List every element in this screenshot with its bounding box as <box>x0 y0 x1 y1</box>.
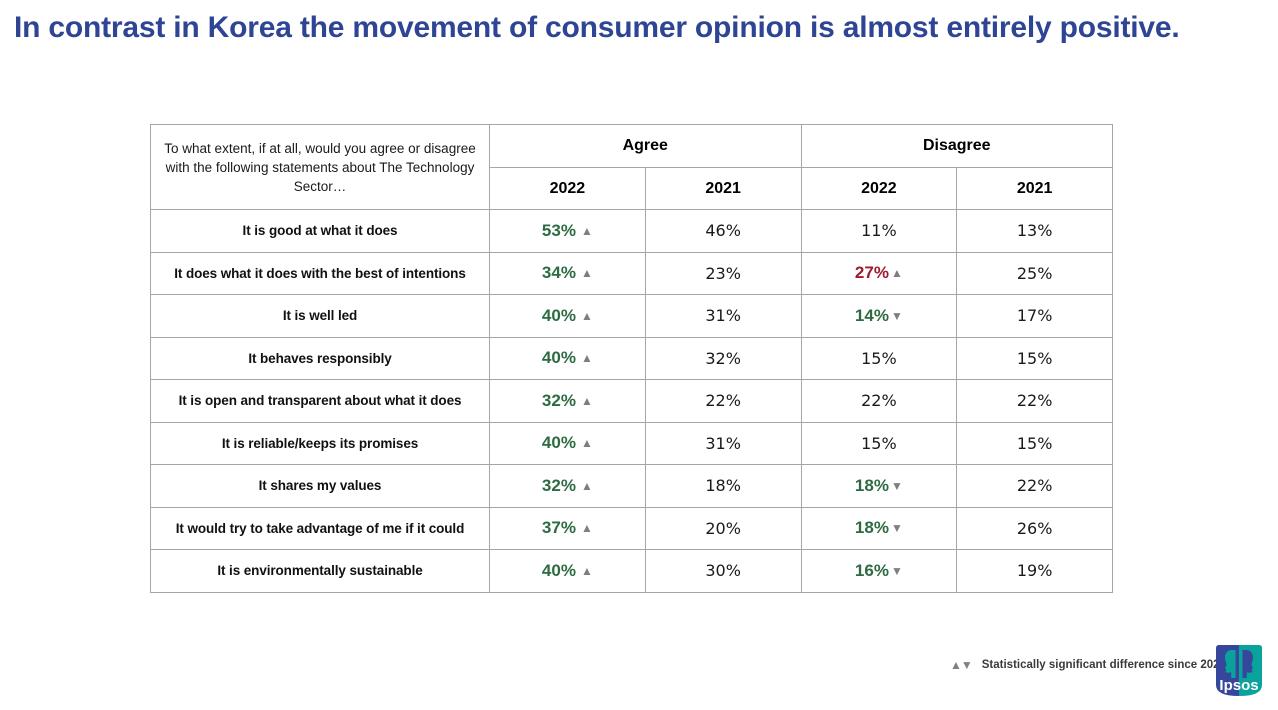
cell-agree-2021-value: 31% <box>705 434 741 453</box>
statement-label: It would try to take advantage of me if … <box>151 507 490 550</box>
cell-disagree-2022: 14%▼ <box>801 295 957 338</box>
cell-agree-2021: 31% <box>645 422 801 465</box>
significance-legend: ▲▼ Statistically significant difference … <box>950 659 1226 671</box>
cell-agree-2021: 23% <box>645 252 801 295</box>
cell-agree-2022: 40%▲ <box>490 337 646 380</box>
cell-agree-2021-value: 46% <box>705 221 741 240</box>
cell-disagree-2022: 11% <box>801 210 957 253</box>
cell-disagree-2022: 18%▼ <box>801 507 957 550</box>
cell-agree-2022-value: 40% <box>542 433 576 452</box>
cell-disagree-2021-value: 25% <box>1017 264 1053 283</box>
arrow-up-icon: ▲ <box>581 351 593 365</box>
cell-agree-2021: 31% <box>645 295 801 338</box>
table-row: It does what it does with the best of in… <box>151 252 1113 295</box>
cell-disagree-2021: 26% <box>957 507 1113 550</box>
arrow-up-icon: ▲ <box>581 521 593 535</box>
significance-arrows-icon: ▲▼ <box>950 659 972 671</box>
table-row: It shares my values32%▲18%18%▼22% <box>151 465 1113 508</box>
cell-disagree-2022: 15% <box>801 422 957 465</box>
table-row: It would try to take advantage of me if … <box>151 507 1113 550</box>
statement-label: It is well led <box>151 295 490 338</box>
column-header-agree-2022: 2022 <box>490 168 646 210</box>
cell-disagree-2022-value: 27% <box>855 263 889 282</box>
cell-disagree-2021: 17% <box>957 295 1113 338</box>
arrow-down-icon: ▼ <box>891 564 903 578</box>
table-row: It is reliable/keeps its promises40%▲31%… <box>151 422 1113 465</box>
column-header-disagree-2022: 2022 <box>801 168 957 210</box>
column-header-disagree-2021: 2021 <box>957 168 1113 210</box>
arrow-up-icon: ▲ <box>581 479 593 493</box>
cell-disagree-2021-value: 22% <box>1017 476 1053 495</box>
significance-legend-text: Statistically significant difference sin… <box>982 659 1226 671</box>
arrow-up-icon: ▲ <box>891 266 903 280</box>
cell-agree-2021: 46% <box>645 210 801 253</box>
cell-disagree-2022-value: 18% <box>855 518 889 537</box>
cell-agree-2022-value: 40% <box>542 306 576 325</box>
cell-disagree-2021: 22% <box>957 380 1113 423</box>
cell-agree-2022-value: 34% <box>542 263 576 282</box>
cell-disagree-2021: 15% <box>957 337 1113 380</box>
cell-disagree-2021-value: 15% <box>1017 349 1053 368</box>
cell-disagree-2022: 15% <box>801 337 957 380</box>
arrow-up-icon: ▲ <box>581 436 593 450</box>
page-title: In contrast in Korea the movement of con… <box>14 6 1264 49</box>
cell-disagree-2022-value: 14% <box>855 306 889 325</box>
cell-agree-2021-value: 23% <box>705 264 741 283</box>
arrow-up-icon: ▲ <box>581 394 593 408</box>
statement-label: It does what it does with the best of in… <box>151 252 490 295</box>
cell-agree-2022-value: 40% <box>542 561 576 580</box>
cell-disagree-2022-value: 11% <box>861 221 897 240</box>
cell-disagree-2022-value: 18% <box>855 476 889 495</box>
arrow-down-icon: ▼ <box>891 479 903 493</box>
arrow-down-icon: ▼ <box>891 521 903 535</box>
cell-agree-2022: 32%▲ <box>490 465 646 508</box>
cell-disagree-2022: 16%▼ <box>801 550 957 593</box>
cell-agree-2022-value: 53% <box>542 221 576 240</box>
table-row: It is good at what it does53%▲46%11%13% <box>151 210 1113 253</box>
statement-label: It is environmentally sustainable <box>151 550 490 593</box>
cell-disagree-2022-value: 16% <box>855 561 889 580</box>
ipsos-wordmark: Ipsos <box>1219 677 1258 694</box>
ipsos-logo-icon: Ipsos <box>1216 645 1262 696</box>
table-header: To what extent, if at all, would you agr… <box>151 125 1113 210</box>
cell-agree-2021-value: 32% <box>705 349 741 368</box>
cell-disagree-2021-value: 15% <box>1017 434 1053 453</box>
header-row-groups: To what extent, if at all, would you agr… <box>151 125 1113 168</box>
cell-disagree-2021-value: 17% <box>1017 306 1053 325</box>
cell-disagree-2021: 19% <box>957 550 1113 593</box>
arrow-down-icon: ▼ <box>891 309 903 323</box>
cell-agree-2021-value: 22% <box>705 391 741 410</box>
table-row: It is open and transparent about what it… <box>151 380 1113 423</box>
cell-agree-2021-value: 31% <box>705 306 741 325</box>
cell-agree-2021: 22% <box>645 380 801 423</box>
cell-agree-2021: 20% <box>645 507 801 550</box>
arrow-up-icon: ▲ <box>581 224 593 238</box>
cell-disagree-2022: 27%▲ <box>801 252 957 295</box>
cell-agree-2022-value: 32% <box>542 391 576 410</box>
cell-disagree-2021-value: 13% <box>1017 221 1053 240</box>
statement-label: It is good at what it does <box>151 210 490 253</box>
cell-disagree-2021: 25% <box>957 252 1113 295</box>
cell-agree-2021-value: 20% <box>705 519 741 538</box>
statement-label: It is open and transparent about what it… <box>151 380 490 423</box>
table-row: It behaves responsibly40%▲32%15%15% <box>151 337 1113 380</box>
survey-results-table: To what extent, if at all, would you agr… <box>150 124 1113 593</box>
cell-agree-2022-value: 37% <box>542 518 576 537</box>
column-group-agree: Agree <box>490 125 802 168</box>
arrow-up-icon: ▲ <box>581 266 593 280</box>
statement-label: It shares my values <box>151 465 490 508</box>
cell-agree-2022: 40%▲ <box>490 422 646 465</box>
cell-disagree-2022: 18%▼ <box>801 465 957 508</box>
arrow-up-icon: ▲ <box>581 309 593 323</box>
cell-disagree-2022-value: 15% <box>861 349 897 368</box>
table-row: It is well led40%▲31%14%▼17% <box>151 295 1113 338</box>
cell-disagree-2022-value: 15% <box>861 434 897 453</box>
survey-question-cell: To what extent, if at all, would you agr… <box>151 125 490 210</box>
cell-agree-2021-value: 18% <box>705 476 741 495</box>
statement-label: It is reliable/keeps its promises <box>151 422 490 465</box>
ipsos-logo: Ipsos <box>1216 645 1262 696</box>
cell-disagree-2021: 15% <box>957 422 1113 465</box>
cell-agree-2022-value: 40% <box>542 348 576 367</box>
cell-disagree-2021: 22% <box>957 465 1113 508</box>
cell-agree-2021: 30% <box>645 550 801 593</box>
table-row: It is environmentally sustainable40%▲30%… <box>151 550 1113 593</box>
cell-disagree-2021-value: 19% <box>1017 561 1053 580</box>
column-group-disagree: Disagree <box>801 125 1113 168</box>
cell-agree-2021-value: 30% <box>705 561 741 580</box>
cell-agree-2022: 34%▲ <box>490 252 646 295</box>
cell-agree-2021: 18% <box>645 465 801 508</box>
cell-agree-2022: 32%▲ <box>490 380 646 423</box>
cell-disagree-2022-value: 22% <box>861 391 897 410</box>
cell-agree-2022: 40%▲ <box>490 295 646 338</box>
cell-agree-2021: 32% <box>645 337 801 380</box>
cell-agree-2022-value: 32% <box>542 476 576 495</box>
arrow-up-icon: ▲ <box>581 564 593 578</box>
cell-agree-2022: 40%▲ <box>490 550 646 593</box>
cell-disagree-2021: 13% <box>957 210 1113 253</box>
cell-agree-2022: 53%▲ <box>490 210 646 253</box>
cell-agree-2022: 37%▲ <box>490 507 646 550</box>
column-header-agree-2021: 2021 <box>645 168 801 210</box>
statement-label: It behaves responsibly <box>151 337 490 380</box>
cell-disagree-2021-value: 26% <box>1017 519 1053 538</box>
cell-disagree-2021-value: 22% <box>1017 391 1053 410</box>
cell-disagree-2022: 22% <box>801 380 957 423</box>
table-body: It is good at what it does53%▲46%11%13%I… <box>151 210 1113 593</box>
